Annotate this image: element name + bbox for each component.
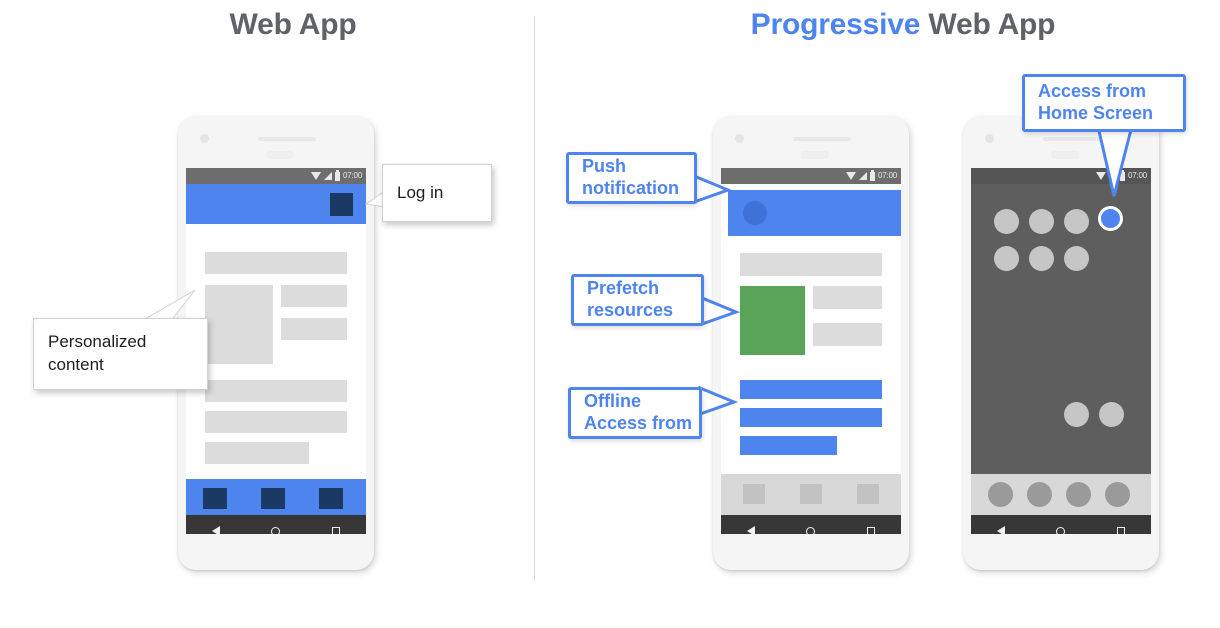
sensor-strip (266, 151, 294, 159)
callout-offline-browsing: Offline Access from (568, 387, 702, 439)
push-notification-callout-tail (694, 176, 730, 208)
push-notification-banner[interactable] (728, 190, 901, 236)
back-icon[interactable] (212, 526, 220, 534)
speaker-grill (258, 137, 316, 141)
section-divider (534, 16, 535, 581)
android-nav-bar[interactable] (186, 515, 366, 534)
heading-right-rest: Web App (920, 8, 1055, 41)
bottom-nav-item[interactable] (203, 488, 227, 509)
signal-icon (324, 172, 332, 180)
signal-icon (859, 172, 867, 180)
android-nav-bar[interactable] (971, 515, 1151, 534)
app-icon[interactable] (1099, 402, 1124, 427)
dock-icon[interactable] (988, 482, 1013, 507)
camera-icon (200, 134, 209, 143)
speaker-grill (1043, 137, 1101, 141)
app-icon-pwa-installed[interactable] (1098, 206, 1123, 231)
heading-left-text: Web App (230, 8, 357, 41)
notification-avatar (743, 201, 767, 225)
content-block (813, 286, 882, 309)
status-time: 07:00 (343, 172, 362, 180)
callout-line: Push (582, 156, 681, 178)
callout-line: Log in (397, 182, 477, 205)
prefetch-callout-tail (702, 298, 738, 330)
prefetched-image (740, 286, 805, 355)
dock-icon[interactable] (1066, 482, 1091, 507)
android-nav-bar[interactable] (721, 515, 901, 534)
app-icon[interactable] (994, 246, 1019, 271)
callout-line: Access from (1038, 81, 1170, 103)
content-block (740, 253, 882, 276)
status-bar: 07:00 (721, 168, 901, 184)
bottom-app-nav[interactable] (186, 479, 366, 515)
callout-line: Prefetch (587, 278, 688, 300)
recents-icon[interactable] (332, 527, 340, 534)
diagram-canvas: Web App Progressive Web App 07:00 (0, 0, 1220, 628)
callout-line: Personalized (48, 331, 193, 354)
page-title-progressive-web-app: Progressive Web App (586, 8, 1220, 42)
home-screen-wallpaper (971, 184, 1151, 474)
callout-personalized-content: Personalized content (33, 318, 208, 390)
battery-icon (870, 172, 875, 181)
content-block (205, 380, 347, 402)
battery-icon (335, 172, 340, 181)
offline-callout-tail (700, 388, 736, 420)
phone-screen-pwa-content: 07:00 (721, 168, 901, 534)
recents-icon[interactable] (867, 527, 875, 534)
bottom-nav-item[interactable] (261, 488, 285, 509)
login-button[interactable] (330, 193, 353, 216)
callout-line: notification (582, 178, 681, 200)
app-icon[interactable] (1064, 402, 1089, 427)
bottom-nav-item[interactable] (857, 484, 879, 504)
content-image-block (205, 285, 273, 364)
home-icon[interactable] (271, 527, 280, 535)
content-block (281, 285, 347, 307)
home-screen-dock (971, 474, 1151, 515)
callout-line: Home Screen (1038, 103, 1170, 125)
status-time: 07:00 (878, 172, 897, 180)
status-bar: 07:00 (186, 168, 366, 184)
heading-right-accent: Progressive (751, 8, 921, 41)
phone-screen-web-app: 07:00 (186, 168, 366, 534)
callout-line: Offline (584, 391, 686, 413)
wifi-icon (311, 172, 321, 180)
callout-line: resources (587, 300, 688, 322)
page-title-web-app: Web App (0, 8, 586, 42)
offline-content-block (740, 436, 837, 455)
callout-line: content (48, 354, 193, 377)
speaker-grill (793, 137, 851, 141)
sensor-strip (1051, 151, 1079, 159)
camera-icon (985, 134, 994, 143)
app-icon[interactable] (1029, 209, 1054, 234)
wifi-icon (846, 172, 856, 180)
phone-pwa-content: 07:00 (713, 116, 909, 570)
home-icon[interactable] (1056, 527, 1065, 535)
callout-prefetch-resources: Prefetch resources (571, 274, 704, 326)
app-bar (186, 184, 366, 224)
content-block (813, 323, 882, 346)
home-icon[interactable] (806, 527, 815, 535)
back-icon[interactable] (997, 526, 1005, 534)
offline-content-block (740, 408, 882, 427)
app-icon[interactable] (1064, 246, 1089, 271)
sensor-strip (801, 151, 829, 159)
app-icon[interactable] (994, 209, 1019, 234)
content-block (205, 252, 347, 274)
back-icon[interactable] (747, 526, 755, 534)
callout-log-in: Log in (382, 164, 492, 222)
bottom-nav-item[interactable] (743, 484, 765, 504)
callout-access-from-home-screen: Access from Home Screen (1022, 74, 1186, 132)
phone-screen-home: 07:00 (971, 168, 1151, 534)
app-icon[interactable] (1064, 209, 1089, 234)
app-icon[interactable] (1029, 246, 1054, 271)
dock-icon[interactable] (1105, 482, 1130, 507)
bottom-nav-item[interactable] (319, 488, 343, 509)
content-block (281, 318, 347, 340)
dock-icon[interactable] (1027, 482, 1052, 507)
bottom-nav-item[interactable] (800, 484, 822, 504)
content-block (205, 411, 347, 433)
bottom-app-nav[interactable] (721, 474, 901, 515)
callout-push-notification: Push notification (566, 152, 697, 204)
content-block (205, 442, 309, 464)
callout-line: Access from (584, 413, 686, 435)
camera-icon (735, 134, 744, 143)
recents-icon[interactable] (1117, 527, 1125, 534)
offline-content-block (740, 380, 882, 399)
